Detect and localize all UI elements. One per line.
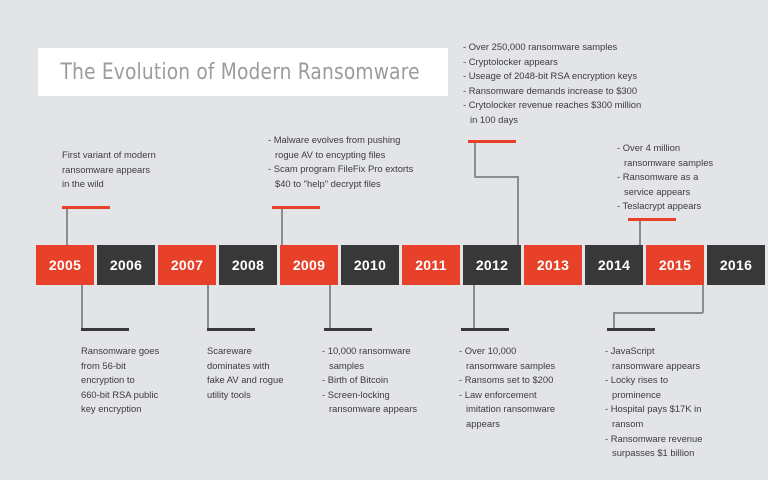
year-block-2005[interactable]: 2005 <box>36 245 94 285</box>
note-above-2005: First variant of modern ransomware appea… <box>62 148 156 192</box>
marker-2008 <box>207 328 255 331</box>
connector-2013-seg1 <box>474 143 476 177</box>
note-below-2008: Scareware dominates with fake AV and rog… <box>207 344 283 402</box>
connector-2006 <box>81 285 83 329</box>
note-below-2012: - Over 10,000 ransomware samples - Ranso… <box>459 344 555 432</box>
year-block-2009[interactable]: 2009 <box>280 245 338 285</box>
marker-2012 <box>461 328 509 331</box>
year-block-2014[interactable]: 2014 <box>585 245 643 285</box>
page-title: The Evolution of Modern Ransomware <box>38 60 420 85</box>
marker-2006 <box>81 328 129 331</box>
title-banner: The Evolution of Modern Ransomware <box>38 48 448 96</box>
connector-2010 <box>329 285 331 329</box>
year-block-2015[interactable]: 2015 <box>646 245 704 285</box>
marker-2015 <box>628 218 676 221</box>
marker-2009 <box>272 206 320 209</box>
year-block-2010[interactable]: 2010 <box>341 245 399 285</box>
year-block-2012[interactable]: 2012 <box>463 245 521 285</box>
connector-2013-seg2 <box>474 176 518 178</box>
connector-2016-seg3 <box>613 312 615 329</box>
note-below-2016: - JavaScript ransomware appears - Locky … <box>605 344 702 461</box>
year-block-2007[interactable]: 2007 <box>158 245 216 285</box>
infographic-canvas: The Evolution of Modern Ransomware 2005 … <box>0 0 768 480</box>
marker-2016 <box>607 328 655 331</box>
connector-2016-seg2 <box>613 312 703 314</box>
note-above-2015: - Over 4 million ransomware samples - Ra… <box>617 141 713 214</box>
note-above-2009: - Malware evolves from pushing rogue AV … <box>268 133 413 191</box>
year-block-2011[interactable]: 2011 <box>402 245 460 285</box>
note-above-2013: - Over 250,000 ransomware samples - Cryp… <box>463 40 641 128</box>
year-block-2006[interactable]: 2006 <box>97 245 155 285</box>
connector-2009 <box>281 209 283 245</box>
connector-2008 <box>207 285 209 329</box>
marker-2005 <box>62 206 110 209</box>
year-block-2008[interactable]: 2008 <box>219 245 277 285</box>
connector-2013-seg3 <box>517 176 519 245</box>
connector-2005 <box>66 209 68 245</box>
connector-2016-seg1 <box>702 285 704 313</box>
note-below-2006: Ransomware goes from 56-bit encryption t… <box>81 344 159 417</box>
connector-2012 <box>473 285 475 329</box>
year-block-2016[interactable]: 2016 <box>707 245 765 285</box>
timeline-track: 2005 2006 2007 2008 2009 2010 2011 2012 … <box>36 245 765 285</box>
connector-2015 <box>639 221 641 245</box>
marker-2010 <box>324 328 372 331</box>
year-block-2013[interactable]: 2013 <box>524 245 582 285</box>
note-below-2010: - 10,000 ransomware samples - Birth of B… <box>322 344 417 417</box>
